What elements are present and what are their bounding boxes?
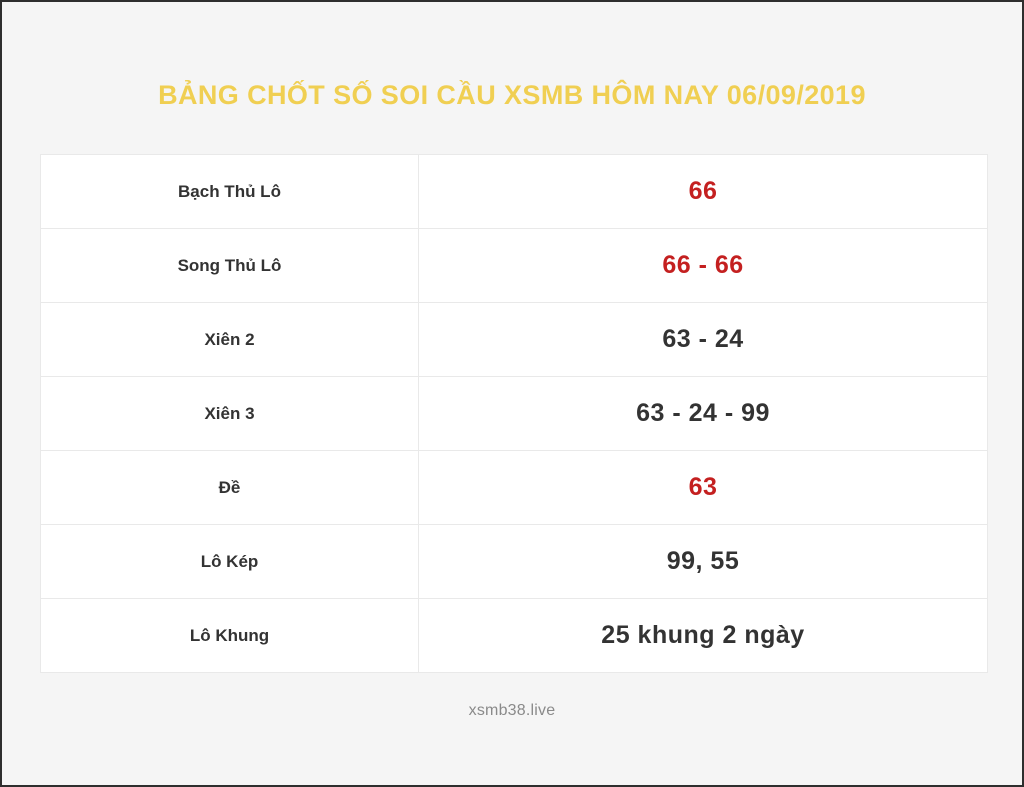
table-row: Lô Kép99, 55 (41, 525, 988, 599)
bet-value: 25 khung 2 ngày (419, 599, 988, 673)
bet-value: 66 - 66 (419, 229, 988, 303)
page-frame: BẢNG CHỐT SỐ SOI CẦU XSMB HÔM NAY 06/09/… (0, 0, 1024, 787)
bet-type-label: Bạch Thủ Lô (41, 155, 419, 229)
bet-value: 66 (419, 155, 988, 229)
page-title: BẢNG CHỐT SỐ SOI CẦU XSMB HÔM NAY 06/09/… (158, 80, 866, 111)
table-row: Lô Khung25 khung 2 ngày (41, 599, 988, 673)
title-bar: BẢNG CHỐT SỐ SOI CẦU XSMB HÔM NAY 06/09/… (2, 80, 1022, 111)
table-row: Song Thủ Lô66 - 66 (41, 229, 988, 303)
bet-type-label: Xiên 2 (41, 303, 419, 377)
table-row: Bạch Thủ Lô66 (41, 155, 988, 229)
bet-type-label: Lô Kép (41, 525, 419, 599)
footer: xsmb38.live (2, 702, 1022, 720)
bet-type-label: Xiên 3 (41, 377, 419, 451)
prediction-table: Bạch Thủ Lô66Song Thủ Lô66 - 66Xiên 263 … (40, 154, 988, 673)
bet-value: 63 (419, 451, 988, 525)
bet-value: 99, 55 (419, 525, 988, 599)
table-row: Đề63 (41, 451, 988, 525)
bet-type-label: Lô Khung (41, 599, 419, 673)
bet-type-label: Đề (41, 451, 419, 525)
table-row: Xiên 263 - 24 (41, 303, 988, 377)
bet-type-label: Song Thủ Lô (41, 229, 419, 303)
bet-value: 63 - 24 - 99 (419, 377, 988, 451)
table-body: Bạch Thủ Lô66Song Thủ Lô66 - 66Xiên 263 … (41, 155, 988, 673)
table-row: Xiên 363 - 24 - 99 (41, 377, 988, 451)
site-credit: xsmb38.live (469, 702, 556, 719)
bet-value: 63 - 24 (419, 303, 988, 377)
